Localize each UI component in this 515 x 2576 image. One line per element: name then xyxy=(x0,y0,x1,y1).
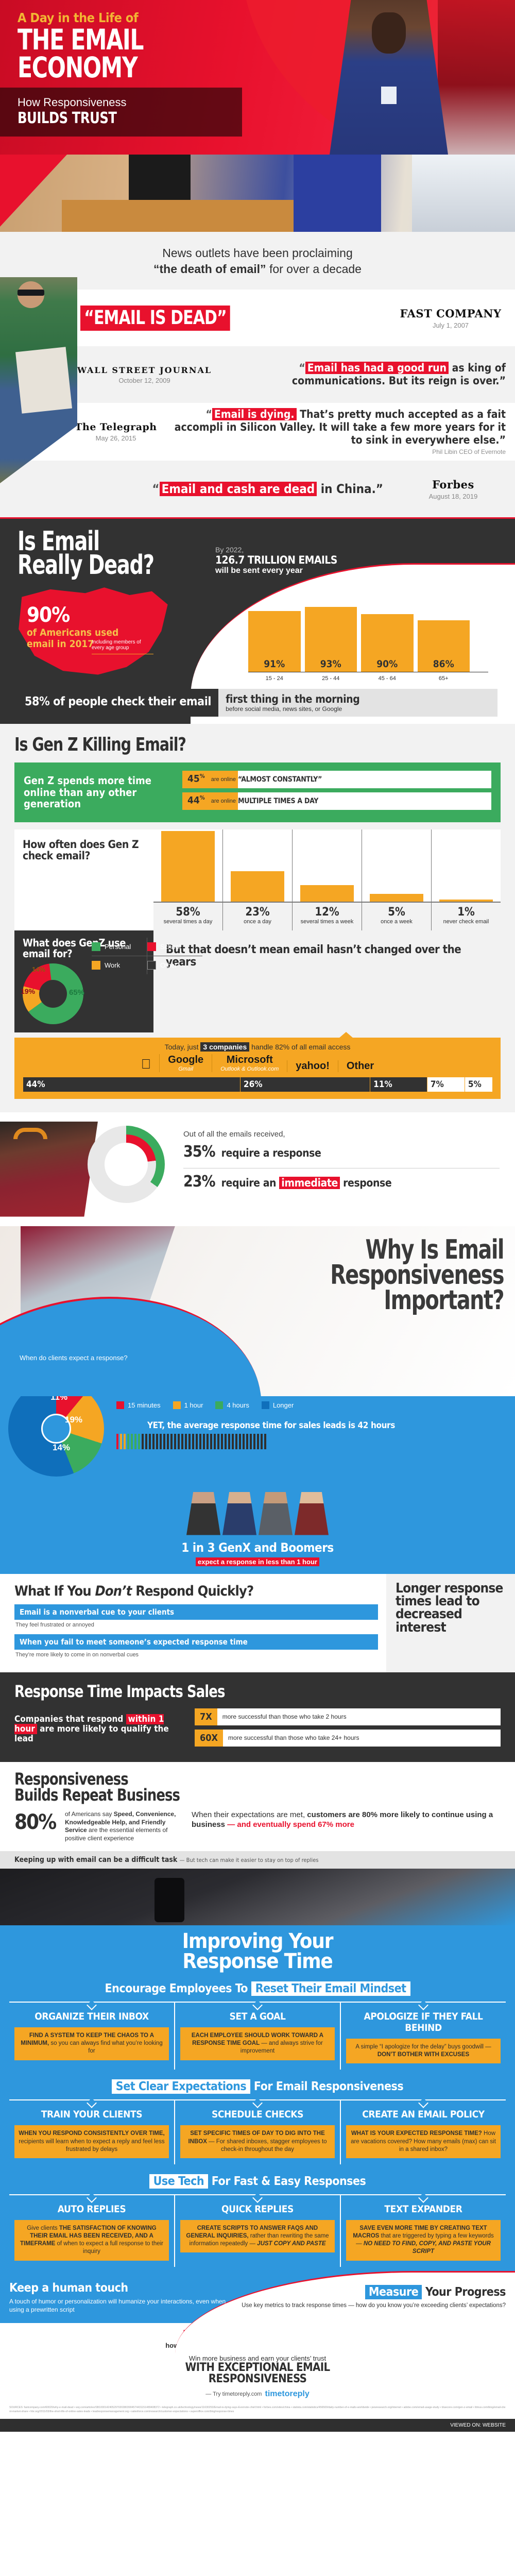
card-body: WHEN YOU RESPOND CONSISTENTLY OVER TIME,… xyxy=(14,2125,169,2158)
gen-z-note: But that doesn’t mean email hasn’t chang… xyxy=(166,944,491,969)
providers-arrow xyxy=(339,1032,353,1038)
improve-grid-2: TRAIN YOUR CLIENTS WHEN YOU RESPOND CONS… xyxy=(0,2099,515,2172)
human-touch-title: Keep a human touch xyxy=(9,2281,236,2295)
sales-bar-7x: 7Xmore successful than those who take 2 … xyxy=(195,1708,501,1725)
improve-card-quick-replies: QUICK REPLIES CREATE SCRIPTS TO ANSWER F… xyxy=(174,2194,340,2267)
freq-col xyxy=(153,829,222,902)
gen-z-online-row: 45% are online “ALMOST CONSTANTLY” xyxy=(182,771,491,788)
quote-1-tag: “EMAIL IS DEAD” xyxy=(80,306,230,331)
donut-work-pct: 14% xyxy=(32,965,45,973)
expectation-legend: 15 minutes 1 hour 4 hours Longer YET, th… xyxy=(116,1396,507,1449)
freq-label-4: 1%never check email xyxy=(431,903,501,930)
genx-boomers-stat: 1 in 3 GenX and Boomers xyxy=(0,1540,515,1555)
dont-respond-section: What If You Don’t Respond Quickly? Email… xyxy=(0,1574,515,1672)
improve-card-text-expander: TEXT EXPANDER SAVE EVEN MORE TIME BY CRE… xyxy=(340,2194,506,2267)
response-stat-23: 23% require an immediate response xyxy=(183,1168,500,1198)
pie-pct-1hour: 19% xyxy=(65,1415,82,1425)
expectation-pie-wrap: 11% 19% 14% xyxy=(8,1396,116,1479)
morning-check-stat: 58% of people check their email first th… xyxy=(18,689,497,717)
age-pct-45-64: 90% xyxy=(361,658,414,670)
us-map-stat: 90% of Americans used email in 2017 Incl… xyxy=(9,584,236,682)
freq-label-1: 23%once a day xyxy=(222,903,292,930)
gen-z-frequency-title: How often does Gen Z check email? xyxy=(23,839,145,861)
improve-card-schedule-checks: SCHEDULE CHECKS SET SPECIFIC TIMES OF DA… xyxy=(174,2099,340,2164)
improve-card-email-policy: CREATE AN EMAIL POLICY WHAT IS YOUR EXPE… xyxy=(340,2099,506,2164)
morning-check-main: first thing in the morning xyxy=(226,693,490,705)
gen-z-online-box: Gen Z spends more time online than any o… xyxy=(14,762,501,822)
gen-z-online-pct-1: 44% xyxy=(182,792,209,810)
sales-left-text: Companies that respond within 1 hour are… xyxy=(14,1715,184,1744)
office-photo-strip xyxy=(0,155,515,232)
measure-progress-block: Measure Your Progress Use key metrics to… xyxy=(236,2281,506,2310)
gen-z-frequency-bars: 58%several times a day 23%once a day 12%… xyxy=(153,829,501,930)
share-yahoo: 7% xyxy=(427,1077,465,1092)
morning-check-left: 58% of people check their email xyxy=(18,689,218,717)
age-bars: 91% 93% 90% 86% xyxy=(241,605,488,672)
footer-brand-row: — Try timetoreply.com timetoreply xyxy=(10,2389,505,2399)
share-apple: 44% xyxy=(23,1077,240,1092)
quote-2-source: WALL STREET JOURNAL October 12, 2009 xyxy=(77,365,212,384)
gen-z-heading: Is Gen Z Killing Email? xyxy=(14,734,442,755)
improve-card-goal: SET A GOAL EACH EMPLOYEE SHOULD WORK TOW… xyxy=(174,2002,340,2070)
gen-z-usage-row: What does GenZ use email for? 65% 14% 19… xyxy=(14,930,501,1032)
person-suit-shape xyxy=(294,155,381,232)
morning-check-sub: before social media, news sites, or Goog… xyxy=(226,705,490,713)
news-lead-pre: News outlets have been proclaiming xyxy=(162,246,352,260)
age-bar-col: 90% xyxy=(361,614,414,672)
repeat-business-section: ResponsivenessBuilds Repeat Business 80%… xyxy=(0,1762,515,1869)
longer-response-text: Longer response times lead to decreased … xyxy=(396,1582,506,1635)
quote-4-rest: in China.” xyxy=(317,482,383,496)
footer-try-text: — Try timetoreply.com xyxy=(205,2391,262,2397)
repeat-heading: ResponsivenessBuilds Repeat Business xyxy=(14,1771,452,1804)
why-important-title: Why Is Email Responsiveness Important? xyxy=(276,1238,504,1314)
source-date-wsj: October 12, 2009 xyxy=(77,377,212,384)
gen-z-frequency-label: How often does Gen Z check email? xyxy=(14,829,153,930)
quote-row-wsj: WALL STREET JOURNAL October 12, 2009 “Em… xyxy=(0,346,515,403)
newspaper-shape xyxy=(15,347,72,414)
genx-boomers-sub: expect a response in less than 1 hour xyxy=(0,1558,515,1566)
hero-title-line2: ECONOMY xyxy=(18,55,248,81)
age-bar-chart: 91% 93% 90% 86% 15 - 24 25 - 44 45 - 64 … xyxy=(241,605,488,682)
response-35-text: require a response xyxy=(221,1147,321,1159)
freq-col xyxy=(222,829,292,902)
quote-3-highlight: Email is dying. xyxy=(212,408,297,420)
genx-boomers-band: 1 in 3 GenX and Boomers expect a respons… xyxy=(0,1486,515,1574)
pie-question-label: When do clients expect a response? xyxy=(20,1354,128,1362)
hero-subtitle-line2: BUILDS TRUST xyxy=(18,109,210,127)
pie-pct-4hours: 14% xyxy=(53,1443,70,1453)
age-bar-col: 86% xyxy=(418,620,470,672)
gen-z-online-text: Gen Z spends more time online than any o… xyxy=(24,775,173,809)
response-donut-chart xyxy=(88,1126,165,1203)
improve-subhead-2: Set Clear Expectations For Email Respons… xyxy=(0,2077,515,2099)
longer-response-panel: Longer response times lead to decreased … xyxy=(386,1574,515,1672)
headphones-icon xyxy=(13,1128,47,1139)
phone-user-photo xyxy=(0,1869,515,1925)
monitor-shape xyxy=(129,155,191,200)
donut-school-pct: 19% xyxy=(21,987,35,995)
quote-row-forbes: “Email and cash are dead in China.” Forb… xyxy=(0,461,515,517)
dont-respond-left: What If You Don’t Respond Quickly? Email… xyxy=(0,1574,386,1672)
source-date-forbes: August 18, 2019 xyxy=(391,493,515,500)
dead-body-row: 90% of Americans used email in 2017 Incl… xyxy=(0,581,515,682)
emails-per-year-stat: By 2022, 126.7 TRILLION EMAILS will be s… xyxy=(215,546,337,578)
response-lead: Out of all the emails received, xyxy=(183,1130,500,1139)
legend-item-school: School xyxy=(147,938,202,956)
dont-respond-bar-1: Email is a nonverbal cue to your clients xyxy=(14,1604,378,1620)
card-body: SET SPECIFIC TIMES OF DAY TO DIG INTO TH… xyxy=(180,2125,335,2158)
hero-right-strip xyxy=(438,0,515,155)
immediate-highlight: immediate xyxy=(279,1177,340,1189)
improving-response-time-section: Improving YourResponse Time Encourage Em… xyxy=(0,1869,515,2323)
why-important-section: Why Is Email Responsiveness Important? W… xyxy=(0,1226,515,1396)
news-lead: News outlets have been proclaiming “the … xyxy=(0,232,515,290)
gen-z-online-strong-0: “ALMOST CONSTANTLY” xyxy=(238,771,322,788)
repeat-message-2: When their expectations are met, custome… xyxy=(192,1810,501,1830)
card-body: FIND A SYSTEM TO KEEP THE CHAOS TO A MIN… xyxy=(14,2027,169,2060)
dont-respond-heading: What If You Don’t Respond Quickly? xyxy=(14,1583,378,1599)
quote-4-source: Forbes August 18, 2019 xyxy=(391,478,515,500)
expectation-pie-chart: 11% 19% 14% xyxy=(8,1396,104,1477)
provider-share-bar: 44% 26% 11% 7% 5% xyxy=(23,1077,492,1092)
gen-z-frequency-chart: How often does Gen Z check email? 58%sev… xyxy=(14,829,501,930)
providers-caption: Today, just 3 companies handle 82% of al… xyxy=(14,1043,501,1051)
source-date-fastcompany: July 1, 2007 xyxy=(397,321,505,329)
timetoreply-logo: timetoreply xyxy=(265,2389,309,2399)
quote-2-highlight: Email has had a good run xyxy=(305,362,449,374)
freq-label-0: 58%several times a day xyxy=(153,903,222,930)
gen-z-note-panel: But that doesn’t mean email hasn’t chang… xyxy=(153,930,501,1032)
source-name-forbes: Forbes xyxy=(391,478,515,491)
donut-personal-pct: 65% xyxy=(69,988,84,997)
gen-z-online-mid-0: are online xyxy=(209,771,238,788)
hero-banner: A Day in the Life of THE EMAIL ECONOMY H… xyxy=(0,0,515,155)
news-lead-bold: “the death of email” xyxy=(153,262,266,276)
provider-other: Other xyxy=(338,1060,382,1072)
dont-respond-cap-2: They’re more likely to come in on nonver… xyxy=(14,1650,378,1664)
response-stat-35: 35% require a response xyxy=(183,1139,500,1168)
expectation-pie-band: 11% 19% 14% 15 minutes 1 hour 4 hours Lo… xyxy=(0,1396,515,1486)
legend-15-minutes: 15 minutes xyxy=(116,1401,161,1409)
dead-heading-row: Is Email Really Dead? By 2022, 126.7 TRI… xyxy=(0,530,515,581)
freq-bar-cols xyxy=(153,829,501,902)
source-name-fastcompany: FAST COMPANY xyxy=(397,307,505,320)
average-response-time-note: YET, the average response time for sales… xyxy=(147,1420,507,1431)
donut-center-hole xyxy=(105,1143,148,1186)
age-bar-col: 93% xyxy=(305,607,357,672)
infographic-page: A Day in the Life of THE EMAIL ECONOMY H… xyxy=(0,0,515,2432)
dont-respond-cap-1: They feel frustrated or annoyed xyxy=(14,1620,378,1634)
gen-z-usage-donut: 65% 14% 19% xyxy=(23,963,83,1024)
americans-email-pct: 90% xyxy=(27,603,118,627)
improve-subhead-3: Use Tech For Fast & Easy Responses xyxy=(0,2172,515,2194)
hero-subtitle-block: How Responsiveness BUILDS TRUST xyxy=(0,88,242,137)
age-group-note: Including members of every age group xyxy=(92,639,153,651)
email-providers-panel: Today, just 3 companies handle 82% of al… xyxy=(14,1038,501,1099)
quote-2-text: “Email has had a good run as king of com… xyxy=(217,362,506,387)
sales-right-bars: 7Xmore successful than those who take 2 … xyxy=(195,1708,501,1751)
card-body: WHAT IS YOUR EXPECTED RESPONSE TIME? How… xyxy=(346,2125,501,2158)
response-required-section: Out of all the emails received, 35% requ… xyxy=(0,1112,515,1226)
legend-1-hour: 1 hour xyxy=(173,1401,203,1409)
card-body: SAVE EVEN MORE TIME BY CREATING TEXT MAC… xyxy=(346,2220,501,2261)
footer-credit-bar: VIEWED ON: WEBSITE xyxy=(0,2419,515,2432)
response-impacts-sales-section: Response Time Impacts Sales Companies th… xyxy=(0,1672,515,1762)
people-silhouettes xyxy=(0,1488,515,1535)
age-label-1: 25 - 44 xyxy=(305,675,357,682)
quote-3-text: “Email is dying. That’s pretty much acce… xyxy=(173,408,506,446)
quote-3-source: The Telegraph May 26, 2015 xyxy=(62,421,170,442)
legend-item-personal: Personal xyxy=(92,938,147,956)
freq-col xyxy=(431,829,501,902)
repeat-message-1: of Americans say Speed, Convenience, Kno… xyxy=(65,1810,183,1842)
measure-progress-title: Measure Your Progress xyxy=(236,2285,506,2299)
age-pct-25-44: 93% xyxy=(305,658,357,670)
improve-card-apologize: APOLOGIZE IF THEY FALL BEHIND A simple “… xyxy=(340,2002,506,2070)
provider-microsoft: MicrosoftOutlook & Outlook.com xyxy=(212,1054,287,1072)
card-body: EACH EMPLOYEE SHOULD WORK TOWARD A RESPO… xyxy=(180,2027,335,2060)
age-label-0: 15 - 24 xyxy=(248,675,301,682)
quote-row-fastcompany: “EMAIL IS DEAD” FAST COMPANY July 1, 200… xyxy=(0,290,515,346)
is-email-really-dead-section: Is Email Really Dead? By 2022, 126.7 TRI… xyxy=(0,517,515,724)
human-touch-text: A touch of humor or personalization will… xyxy=(9,2297,236,2314)
provider-logos:  GoogleGmail MicrosoftOutlook & Outlook… xyxy=(14,1054,501,1072)
age-label-2: 45 - 64 xyxy=(361,675,414,682)
quote-3-attribution: Phil Libin CEO of Evernote xyxy=(173,448,506,455)
desk-shape xyxy=(62,200,299,232)
sunglasses-icon xyxy=(18,290,44,296)
response-time-ticks xyxy=(116,1434,507,1449)
pie-pct-15min: 11% xyxy=(50,1396,67,1402)
dont-respond-bar-2: When you fail to meet someone’s expected… xyxy=(14,1634,378,1650)
emails-count-sub: will be sent every year xyxy=(215,566,337,575)
age-pct-15-24: 91% xyxy=(248,658,301,670)
hero-text-block: A Day in the Life of THE EMAIL ECONOMY xyxy=(18,10,285,80)
legend-4-hours: 4 hours xyxy=(215,1401,249,1409)
hero-title-line1: THE EMAIL xyxy=(18,27,248,53)
freq-col xyxy=(292,829,362,902)
age-pct-65: 86% xyxy=(418,658,470,670)
provider-apple:  xyxy=(133,1056,160,1072)
response-required-text: Out of all the emails received, 35% requ… xyxy=(165,1122,515,1217)
source-name-wsj: WALL STREET JOURNAL xyxy=(77,365,212,375)
by-year-label: By 2022, xyxy=(215,546,337,554)
quote-4-text: “Email and cash are dead in China.” xyxy=(77,482,383,496)
card-body: Give clients THE SATISFACTION OF KNOWING… xyxy=(14,2220,169,2261)
source-date-telegraph: May 26, 2015 xyxy=(62,434,170,442)
sales-heading: Response Time Impacts Sales xyxy=(14,1682,452,1701)
americans-email-line1: of Americans used xyxy=(27,628,118,638)
human-touch-band: Keep a human touch A touch of humor or p… xyxy=(0,2274,515,2319)
footer-line-4a: WITH EXCEPTIONAL EMAIL xyxy=(10,2362,505,2374)
improve-title: Improving YourResponse Time xyxy=(0,1925,515,1979)
response-23-text: require an immediate response xyxy=(221,1177,392,1189)
smartphone-icon xyxy=(154,1878,184,1922)
red-wedge-shape xyxy=(0,155,67,227)
sales-bar-60x: 60Xmore successful than those who take 2… xyxy=(195,1730,501,1747)
legend-item-other: Other xyxy=(147,956,202,974)
provider-yahoo: yahoo! xyxy=(287,1060,338,1072)
gen-z-online-row: 44% are online MULTIPLE TIMES A DAY xyxy=(182,792,491,810)
gen-z-online-strong-1: MULTIPLE TIMES A DAY xyxy=(238,792,318,810)
headphones-woman-photo xyxy=(0,1122,98,1217)
repeat-note: Keeping up with email can be a difficult… xyxy=(0,1851,515,1869)
improve-card-auto-replies: AUTO REPLIES Give clients THE SATISFACTI… xyxy=(9,2194,174,2267)
share-microsoft: 11% xyxy=(370,1077,427,1092)
donut-chart: 65% 14% 19% xyxy=(23,963,83,1024)
age-label-3: 65+ xyxy=(418,675,470,682)
dead-title: Is Email Really Dead? xyxy=(18,530,195,578)
donut-hole xyxy=(39,980,67,1008)
gen-z-section: Is Gen Z Killing Email? Gen Z spends mor… xyxy=(0,724,515,1112)
legend-item-work: Work xyxy=(92,956,147,974)
freq-label-2: 12%several times a week xyxy=(292,903,362,930)
news-quotes-section: News outlets have been proclaiming “the … xyxy=(0,232,515,517)
providers-count-badge: 3 companies xyxy=(200,1042,249,1052)
quote-1-source: FAST COMPANY July 1, 2007 xyxy=(397,307,505,329)
source-name-telegraph: The Telegraph xyxy=(62,421,170,433)
footer-credit: VIEWED ON: WEBSITE xyxy=(450,2422,506,2428)
card-body: A simple “I apologize for the delay” buy… xyxy=(346,2039,501,2063)
gen-z-usage-legend: Personal School Work Other xyxy=(92,938,202,974)
gen-z-online-rows: 45% are online “ALMOST CONSTANTLY” 44% a… xyxy=(182,771,491,814)
age-bar-col: 91% xyxy=(248,611,301,672)
gen-z-online-mid-1: are online xyxy=(209,792,238,810)
emails-count: 126.7 TRILLION EMAILS xyxy=(215,554,337,566)
share-google: 26% xyxy=(240,1077,370,1092)
freq-label-3: 5%once a week xyxy=(362,903,431,930)
gen-z-online-pct-0: 45% xyxy=(182,771,209,788)
improve-grid-3: AUTO REPLIES Give clients THE SATISFACTI… xyxy=(0,2194,515,2274)
response-23-pct: 23% xyxy=(183,1173,215,1191)
freq-col xyxy=(362,829,431,902)
repeat-80-pct: 80% xyxy=(14,1810,57,1834)
response-35-pct: 35% xyxy=(183,1143,215,1161)
measure-progress-text: Use key metrics to track response times … xyxy=(236,2302,506,2310)
improve-card-organize: ORGANIZE THEIR INBOX FIND A SYSTEM TO KE… xyxy=(9,2002,174,2070)
share-other: 5% xyxy=(465,1077,492,1092)
improve-card-train-clients: TRAIN YOUR CLIENTS WHEN YOU RESPOND CONS… xyxy=(9,2099,174,2164)
hero-subtitle-line1: How Responsiveness xyxy=(18,96,231,109)
legend-longer: Longer xyxy=(262,1401,294,1409)
footer-sources: SOURCES: fastcompany.com/60020/why-e-mai… xyxy=(0,2403,515,2419)
improve-subhead-1: Encourage Employees To Reset Their Email… xyxy=(0,1979,515,2002)
provider-google: GoogleGmail xyxy=(159,1054,212,1072)
gen-z-usage-panel: What does GenZ use email for? 65% 14% 19… xyxy=(14,930,153,1032)
footer-line-4b: RESPONSIVENESS xyxy=(10,2374,505,2385)
card-body: CREATE SCRIPTS TO ANSWER FAQS AND GENERA… xyxy=(180,2220,335,2253)
quote-4-highlight: Email and cash are dead xyxy=(160,482,317,496)
human-touch-block: Keep a human touch A touch of humor or p… xyxy=(9,2281,236,2314)
freq-bar-labels: 58%several times a day 23%once a day 12%… xyxy=(153,902,501,930)
quote-row-telegraph: The Telegraph May 26, 2015 “Email is dyi… xyxy=(0,403,515,461)
dead-title-line2: Really Dead? xyxy=(18,554,195,578)
improve-grid-1: ORGANIZE THEIR INBOX FIND A SYSTEM TO KE… xyxy=(0,2002,515,2077)
age-labels: 15 - 24 25 - 44 45 - 64 65+ xyxy=(241,672,488,682)
window-shape xyxy=(412,155,515,232)
news-lead-post: for over a decade xyxy=(266,262,362,276)
morning-check-right: first thing in the morning before social… xyxy=(218,689,497,717)
